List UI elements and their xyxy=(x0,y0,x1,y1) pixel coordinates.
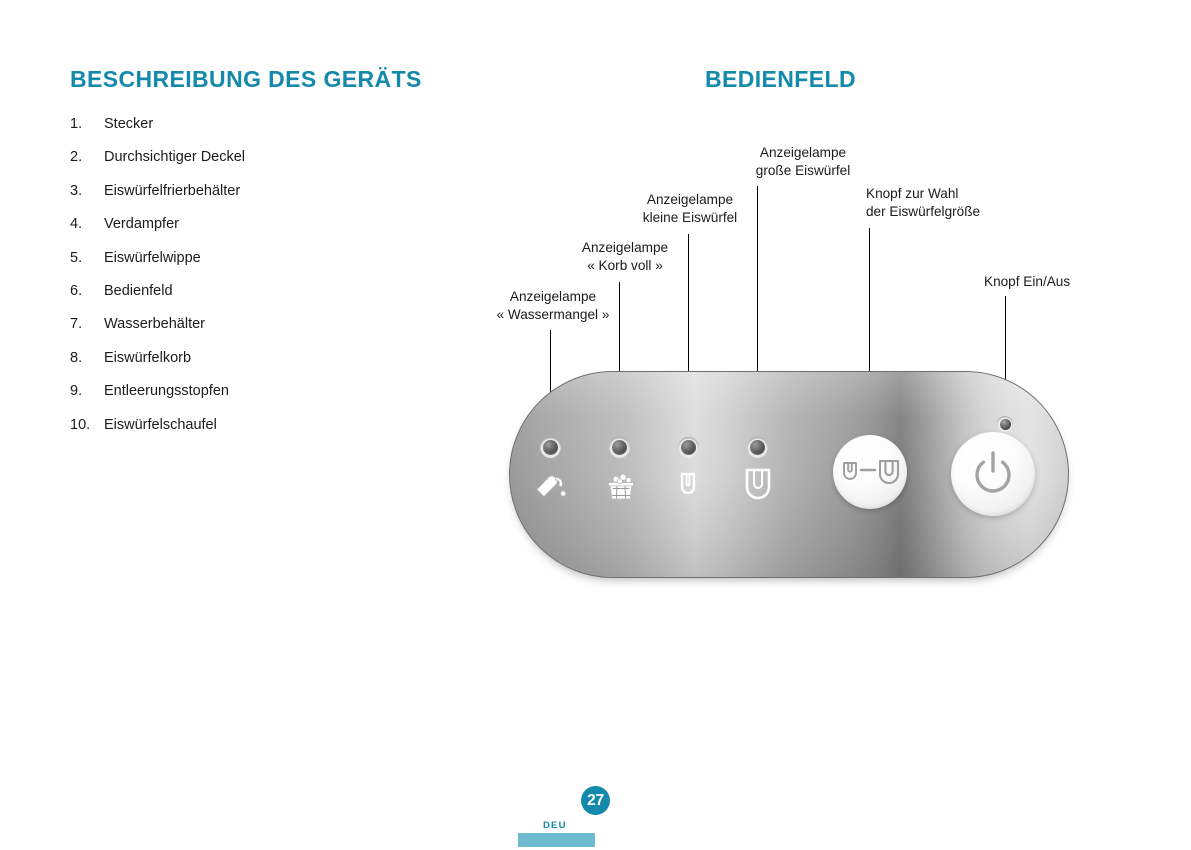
list-item-number: 3. xyxy=(70,183,104,199)
language-code: DEU xyxy=(543,820,567,831)
callout-small-cubes: Anzeigelampe kleine Eiswürfel xyxy=(565,191,815,227)
power-button[interactable] xyxy=(951,432,1035,516)
list-item: 10. Eiswürfelschaufel xyxy=(70,417,410,450)
list-item-label: Eiswürfelwippe xyxy=(104,250,201,266)
list-item-number: 2. xyxy=(70,149,104,165)
page-title-right: BEDIENFELD xyxy=(705,66,856,93)
list-item-number: 5. xyxy=(70,250,104,266)
list-item: 5. Eiswürfelwippe xyxy=(70,250,410,283)
list-item-number: 8. xyxy=(70,350,104,366)
callout-line-1: Knopf zur Wahl xyxy=(866,185,980,203)
large-ice-cube-icon xyxy=(739,462,777,506)
list-item-number: 10. xyxy=(70,417,104,433)
power-indicator-lamp xyxy=(997,416,1013,432)
callout-water-shortage: Anzeigelampe « Wassermangel » xyxy=(428,288,678,324)
callout-line-2: kleine Eiswürfel xyxy=(565,209,815,227)
list-item-number: 9. xyxy=(70,383,104,399)
list-item-number: 4. xyxy=(70,216,104,232)
callout-line-1: Anzeigelampe xyxy=(500,239,750,257)
callout-line-1: Knopf Ein/Aus xyxy=(984,273,1070,291)
list-item-label: Durchsichtiger Deckel xyxy=(104,149,245,165)
list-item-label: Eiswürfelkorb xyxy=(104,350,191,366)
indicator-lamp-basket-full xyxy=(609,437,630,458)
full-ice-basket-icon xyxy=(599,466,643,506)
callout-line-2: « Wassermangel » xyxy=(428,306,678,324)
list-item-number: 7. xyxy=(70,316,104,332)
list-item-number: 6. xyxy=(70,283,104,299)
callout-large-cubes: Anzeigelampe große Eiswürfel xyxy=(678,144,928,180)
list-item: 4. Verdampfer xyxy=(70,216,410,249)
power-symbol-icon xyxy=(970,450,1016,498)
page-number-badge: 27 xyxy=(581,786,610,815)
list-item: 2. Durchsichtiger Deckel xyxy=(70,149,410,182)
callout-line-1: Anzeigelampe xyxy=(428,288,678,306)
list-item: 9. Entleerungsstopfen xyxy=(70,383,410,416)
list-item: 1. Stecker xyxy=(70,116,410,149)
indicator-lamp-water-shortage xyxy=(540,437,561,458)
list-item-label: Eiswürfelschaufel xyxy=(104,417,217,433)
list-item: 3. Eiswürfelfrierbehälter xyxy=(70,183,410,216)
list-item-label: Eiswürfelfrierbehälter xyxy=(104,183,240,199)
small-ice-cube-icon xyxy=(673,466,703,504)
list-item-label: Bedienfeld xyxy=(104,283,173,299)
cube-size-select-icon xyxy=(839,457,901,487)
callout-size-select: Knopf zur Wahl der Eiswürfelgröße xyxy=(866,185,980,221)
water-jug-pouring-icon xyxy=(528,466,572,506)
list-item: 8. Eiswürfelkorb xyxy=(70,350,410,383)
footer-accent-bar xyxy=(518,833,595,847)
indicator-lamp-large-cubes xyxy=(747,437,768,458)
callout-line-1: Anzeigelampe xyxy=(565,191,815,209)
indicator-lamp-small-cubes xyxy=(678,437,699,458)
callout-basket-full: Anzeigelampe « Korb voll » xyxy=(500,239,750,275)
callout-line-2: große Eiswürfel xyxy=(678,162,928,180)
list-item: 6. Bedienfeld xyxy=(70,283,410,316)
list-item-label: Entleerungsstopfen xyxy=(104,383,229,399)
cube-size-select-button[interactable] xyxy=(833,435,907,509)
list-item-label: Wasserbehälter xyxy=(104,316,205,332)
page-title-left: BESCHREIBUNG DES GERÄTS xyxy=(70,66,422,93)
callout-line-2: der Eiswürfelgröße xyxy=(866,203,980,221)
callout-line-1: Anzeigelampe xyxy=(678,144,928,162)
parts-list: 1. Stecker 2. Durchsichtiger Deckel 3. E… xyxy=(70,116,410,450)
list-item-number: 1. xyxy=(70,116,104,132)
list-item-label: Stecker xyxy=(104,116,153,132)
list-item-label: Verdampfer xyxy=(104,216,179,232)
callout-power: Knopf Ein/Aus xyxy=(984,273,1070,291)
list-item: 7. Wasserbehälter xyxy=(70,316,410,349)
callout-line-2: « Korb voll » xyxy=(500,257,750,275)
